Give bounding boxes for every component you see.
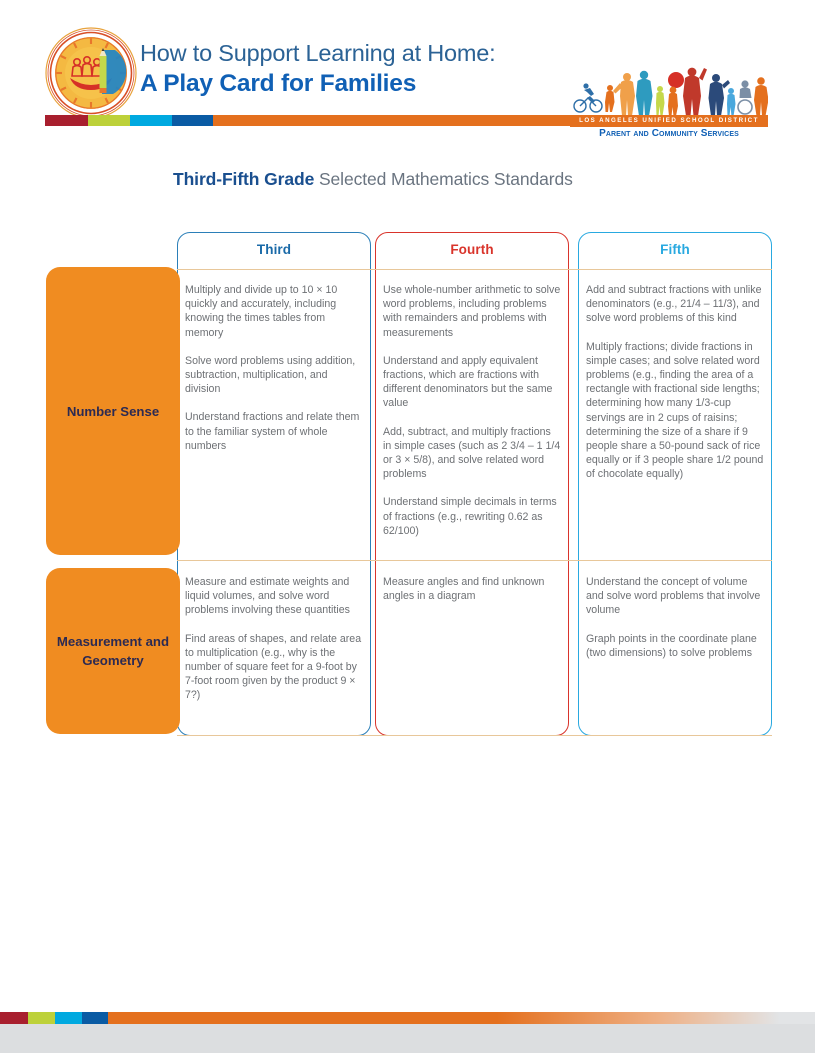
column-header-third: Third xyxy=(177,242,371,257)
standard-item: Find areas of shapes, and relate area to… xyxy=(185,632,363,703)
row-label-number-sense: Number Sense xyxy=(46,267,180,555)
table-rule-under-headers xyxy=(177,269,772,270)
cell-number-sense-fourth: Use whole-number arithmetic to solve wor… xyxy=(383,283,561,538)
footer-colorbar-segment-red xyxy=(0,1012,28,1024)
standard-item: Understand fractions and relate them to … xyxy=(185,410,363,453)
footer-colorbar-segment-cyan xyxy=(55,1012,82,1024)
footer-colorbar-segment-lime xyxy=(28,1012,55,1024)
table-rule-bottom xyxy=(177,735,772,736)
cell-measurement-fourth: Measure angles and find unknown angles i… xyxy=(383,575,561,603)
standard-item: Understand and apply equivalent fraction… xyxy=(383,354,561,411)
column-header-fourth: Fourth xyxy=(375,242,569,257)
footer-colorbar xyxy=(0,1012,815,1024)
column-header-fifth: Fifth xyxy=(578,242,772,257)
footer-colorbar-segment-orange xyxy=(108,1012,815,1024)
standards-table: Third Fourth Fifth Number Sense Measurem… xyxy=(0,0,815,1012)
standard-item: Understand simple decimals in terms of f… xyxy=(383,495,561,538)
standard-item: Multiply and divide up to 10 × 10 quickl… xyxy=(185,283,363,340)
standard-item: Graph points in the coordinate plane (tw… xyxy=(586,632,764,660)
standard-item: Multiply fractions; divide fractions in … xyxy=(586,340,764,482)
table-rule-between-rows xyxy=(177,560,772,561)
cell-measurement-third: Measure and estimate weights and liquid … xyxy=(185,575,363,703)
standard-item: Add, subtract, and multiply fractions in… xyxy=(383,425,561,482)
footer-colorbar-segment-blue xyxy=(82,1012,108,1024)
standard-item: Use whole-number arithmetic to solve wor… xyxy=(383,283,561,340)
standard-item: Measure angles and find unknown angles i… xyxy=(383,575,561,603)
standard-item: Measure and estimate weights and liquid … xyxy=(185,575,363,618)
cell-number-sense-fifth: Add and subtract fractions with unlike d… xyxy=(586,283,764,482)
row-label-measurement-and-geometry: Measurement and Geometry xyxy=(46,568,180,734)
cell-measurement-fifth: Understand the concept of volume and sol… xyxy=(586,575,764,660)
standard-item: Add and subtract fractions with unlike d… xyxy=(586,283,764,326)
document-page: How to Support Learning at Home: A Play … xyxy=(0,0,815,1012)
cell-number-sense-third: Multiply and divide up to 10 × 10 quickl… xyxy=(185,283,363,453)
footer-background xyxy=(0,1024,815,1053)
standard-item: Solve word problems using addition, subt… xyxy=(185,354,363,397)
standard-item: Understand the concept of volume and sol… xyxy=(586,575,764,618)
